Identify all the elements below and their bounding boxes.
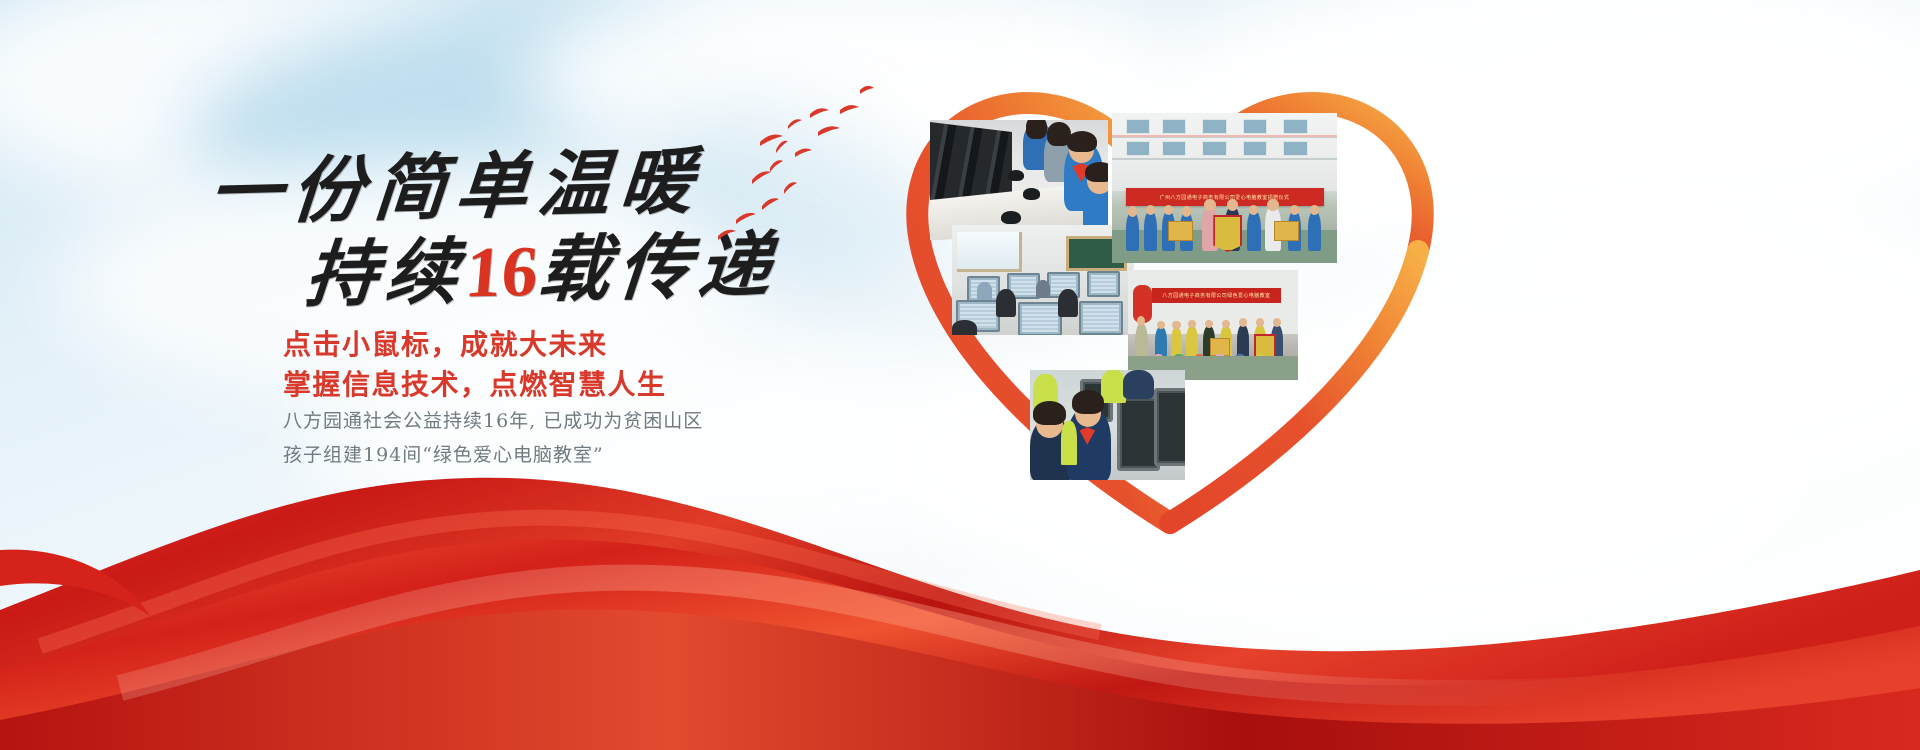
ceremony-banner-text: 广州八方园通电子商务有限公司爱心电脑教室捐赠仪式 [1126, 188, 1324, 206]
red-silk-ribbon [0, 420, 1920, 750]
headline-line-2-prefix: 持续 [302, 229, 469, 317]
ceremony-banner: 广州八方园通电子商务有限公司爱心电脑教室捐赠仪式 [1126, 188, 1324, 206]
ribbon-svg [0, 420, 1920, 750]
subtitle-line-1: 点击小鼠标，成就大未来 [283, 325, 803, 365]
donation-banner: 八方园通电子商务有限公司绿色爱心电脑教室 [1152, 288, 1281, 303]
banner-stage: 一份简单温暖 持续16载传递 点击小鼠标，成就大未来 掌握信息技术，点燃智慧人生… [0, 0, 1920, 750]
headline: 一份简单温暖 持续16载传递 [210, 150, 770, 307]
headline-year-count: 16 [462, 231, 541, 312]
photo-computer-lab-kids[interactable] [930, 120, 1108, 240]
subtitle-line-2: 掌握信息技术，点燃智慧人生 [283, 365, 803, 405]
photo-classroom-rows[interactable] [952, 225, 1134, 335]
donation-banner-text: 八方园通电子商务有限公司绿色爱心电脑教室 [1152, 288, 1281, 303]
photo-indoor-donation-group[interactable]: 八方园通电子商务有限公司绿色爱心电脑教室 [1128, 270, 1298, 380]
headline-line-1: 一份简单温暖 [206, 143, 773, 229]
subtitle-block: 点击小鼠标，成就大未来 掌握信息技术，点燃智慧人生 [283, 325, 803, 405]
photo-school-group-ceremony[interactable]: 广州八方园通电子商务有限公司爱心电脑教室捐赠仪式 [1112, 113, 1337, 263]
